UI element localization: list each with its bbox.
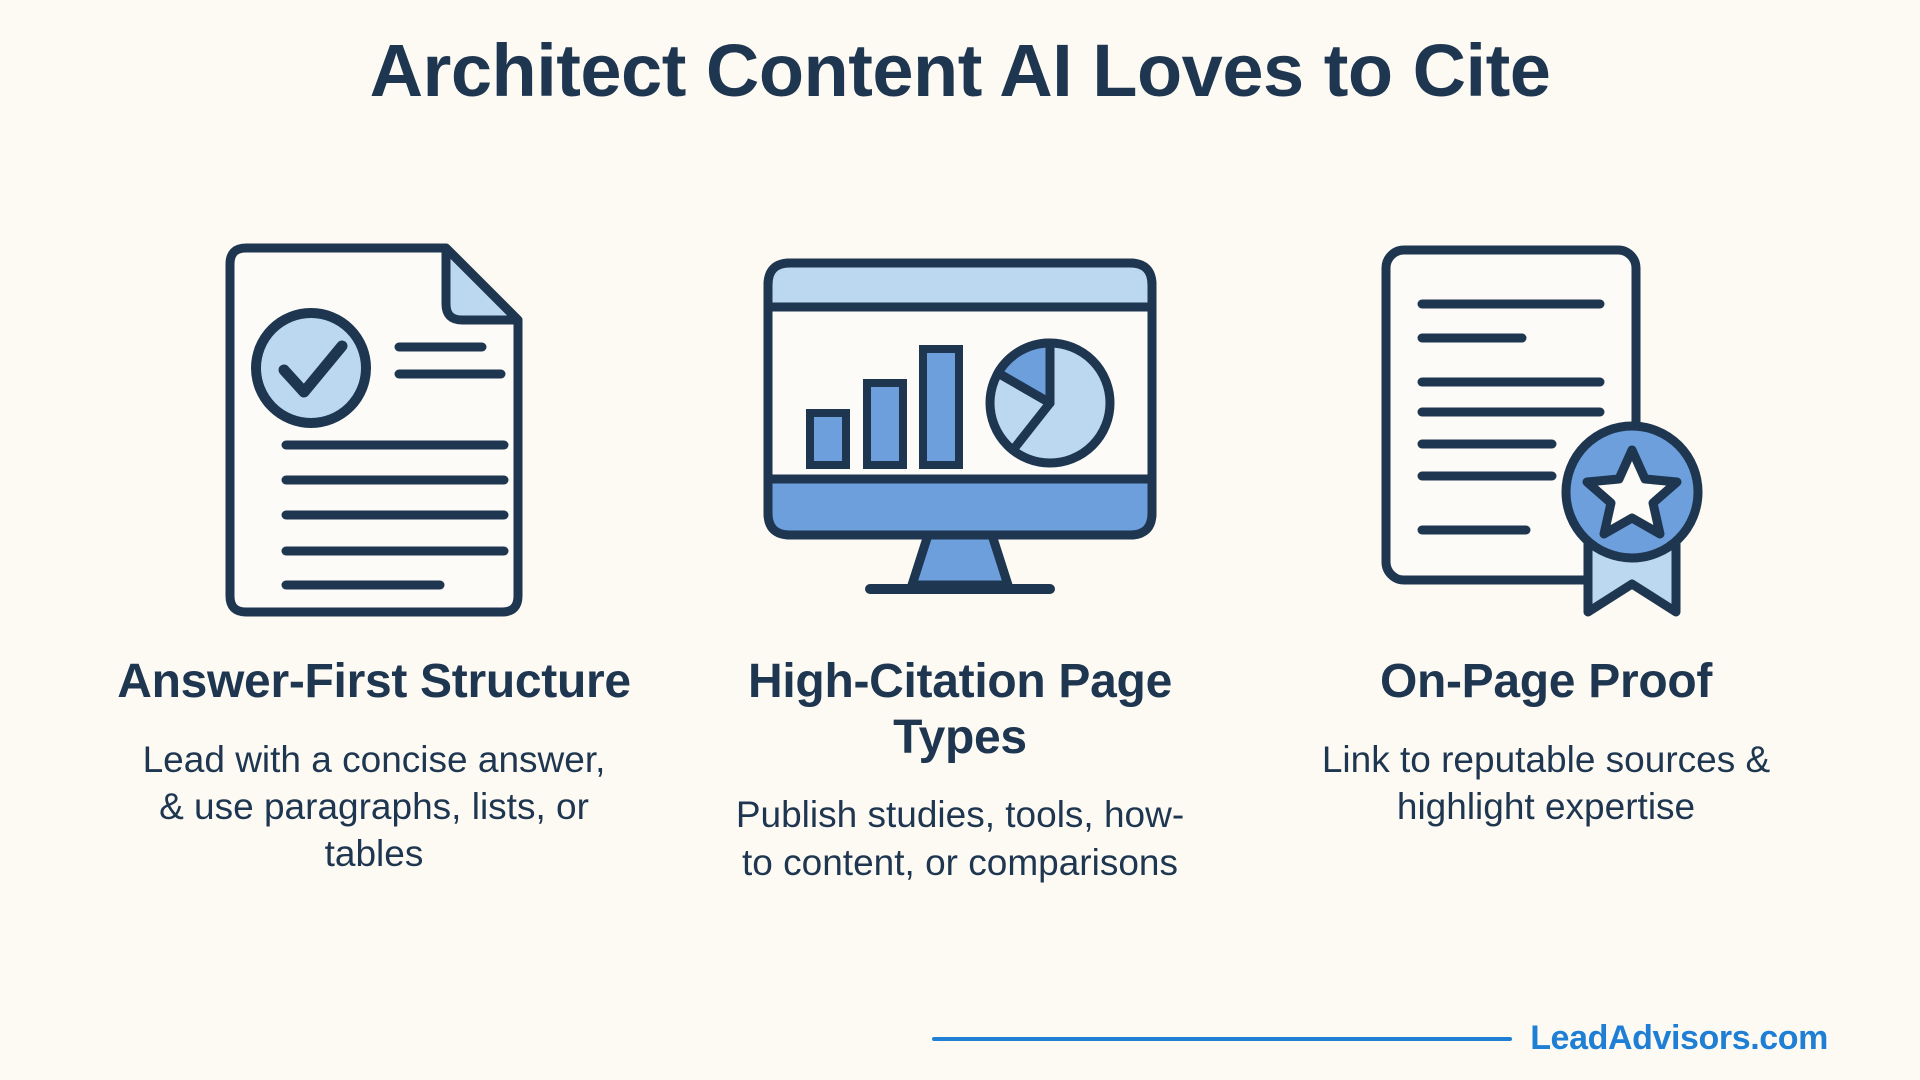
- page-title: Architect Content AI Loves to Cite: [0, 30, 1920, 113]
- cards-row: Answer-First Structure Lead with a conci…: [0, 230, 1920, 886]
- document-checkmark-icon: [214, 230, 534, 630]
- card-heading: On-Page Proof: [1380, 654, 1712, 710]
- brand-name[interactable]: LeadAdvisors.com: [1530, 1019, 1828, 1058]
- card-heading: Answer-First Structure: [117, 654, 631, 710]
- card-high-citation-page-types: High-Citation Page Types Publish studies…: [690, 230, 1230, 886]
- card-on-page-proof: On-Page Proof Link to reputable sources …: [1276, 230, 1816, 886]
- document-award-badge-icon: [1376, 230, 1716, 630]
- footer-divider-line: [932, 1037, 1512, 1041]
- card-answer-first-structure: Answer-First Structure Lead with a conci…: [104, 230, 644, 886]
- monitor-analytics-icon: [760, 230, 1160, 630]
- card-body: Lead with a concise answer, & use paragr…: [139, 736, 609, 878]
- footer-brand: LeadAdvisors.com: [932, 1019, 1828, 1058]
- card-body: Publish studies, tools, how-to content, …: [725, 791, 1195, 886]
- card-heading: High-Citation Page Types: [690, 654, 1230, 765]
- infographic-canvas: Architect Content AI Loves to Cite: [0, 0, 1920, 1080]
- card-body: Link to reputable sources & highlight ex…: [1311, 736, 1781, 831]
